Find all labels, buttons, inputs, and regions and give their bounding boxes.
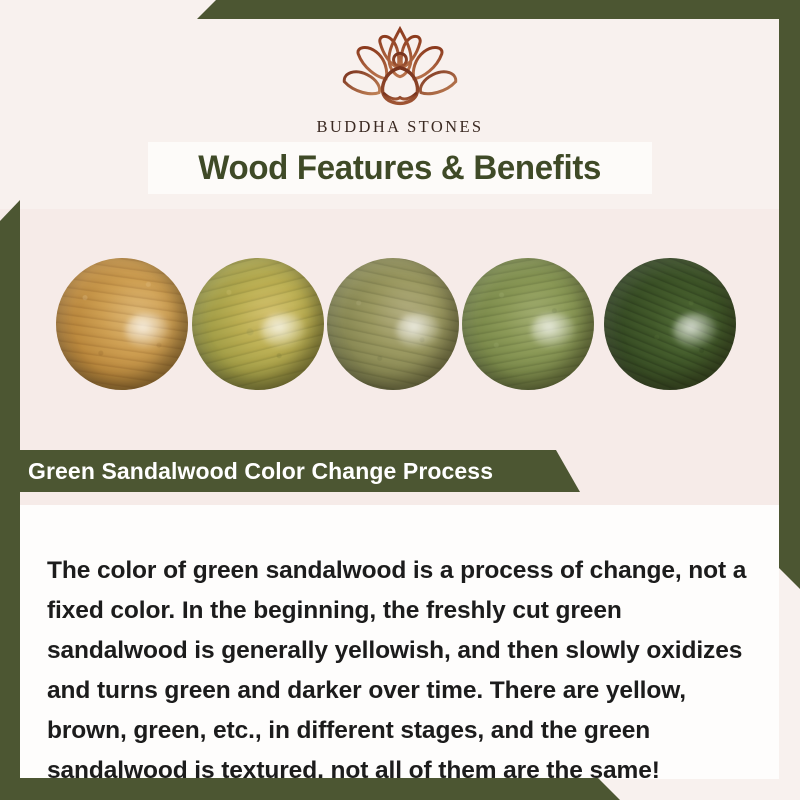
bead-rim-2 bbox=[192, 258, 324, 390]
bead-stage-2 bbox=[192, 258, 324, 390]
bead-rim-3 bbox=[327, 258, 459, 390]
frame-top-bar bbox=[0, 0, 800, 19]
bead-stage-5 bbox=[604, 258, 736, 390]
frame-bottom-bar bbox=[0, 778, 640, 800]
body-copy-text: The color of green sandalwood is a proce… bbox=[47, 551, 757, 791]
brand-wordmark: BUDDHA STONES bbox=[0, 117, 800, 137]
section-heading: Green Sandalwood Color Change Process bbox=[0, 458, 493, 485]
body-copy-panel: The color of green sandalwood is a proce… bbox=[20, 505, 779, 779]
bead-strip bbox=[0, 209, 800, 445]
bead-stage-4 bbox=[462, 258, 594, 390]
bead-rim-4 bbox=[462, 258, 594, 390]
page-title: Wood Features & Benefits bbox=[199, 149, 602, 188]
section-heading-banner: Green Sandalwood Color Change Process bbox=[0, 450, 580, 492]
lotus-meditation-figure-icon bbox=[325, 23, 475, 115]
bead-stage-1 bbox=[56, 258, 188, 390]
frame-right-bar bbox=[779, 19, 800, 589]
bead-stage-3 bbox=[327, 258, 459, 390]
page-title-plaque: Wood Features & Benefits bbox=[148, 142, 652, 194]
frame-left-bar bbox=[0, 200, 20, 800]
brand-logo: BUDDHA STONES bbox=[0, 23, 800, 137]
bead-rim-5 bbox=[604, 258, 736, 390]
bead-row bbox=[0, 209, 800, 445]
poster-canvas: BUDDHA STONES Wood Features & Benefits bbox=[0, 0, 800, 800]
bead-rim-1 bbox=[56, 258, 188, 390]
